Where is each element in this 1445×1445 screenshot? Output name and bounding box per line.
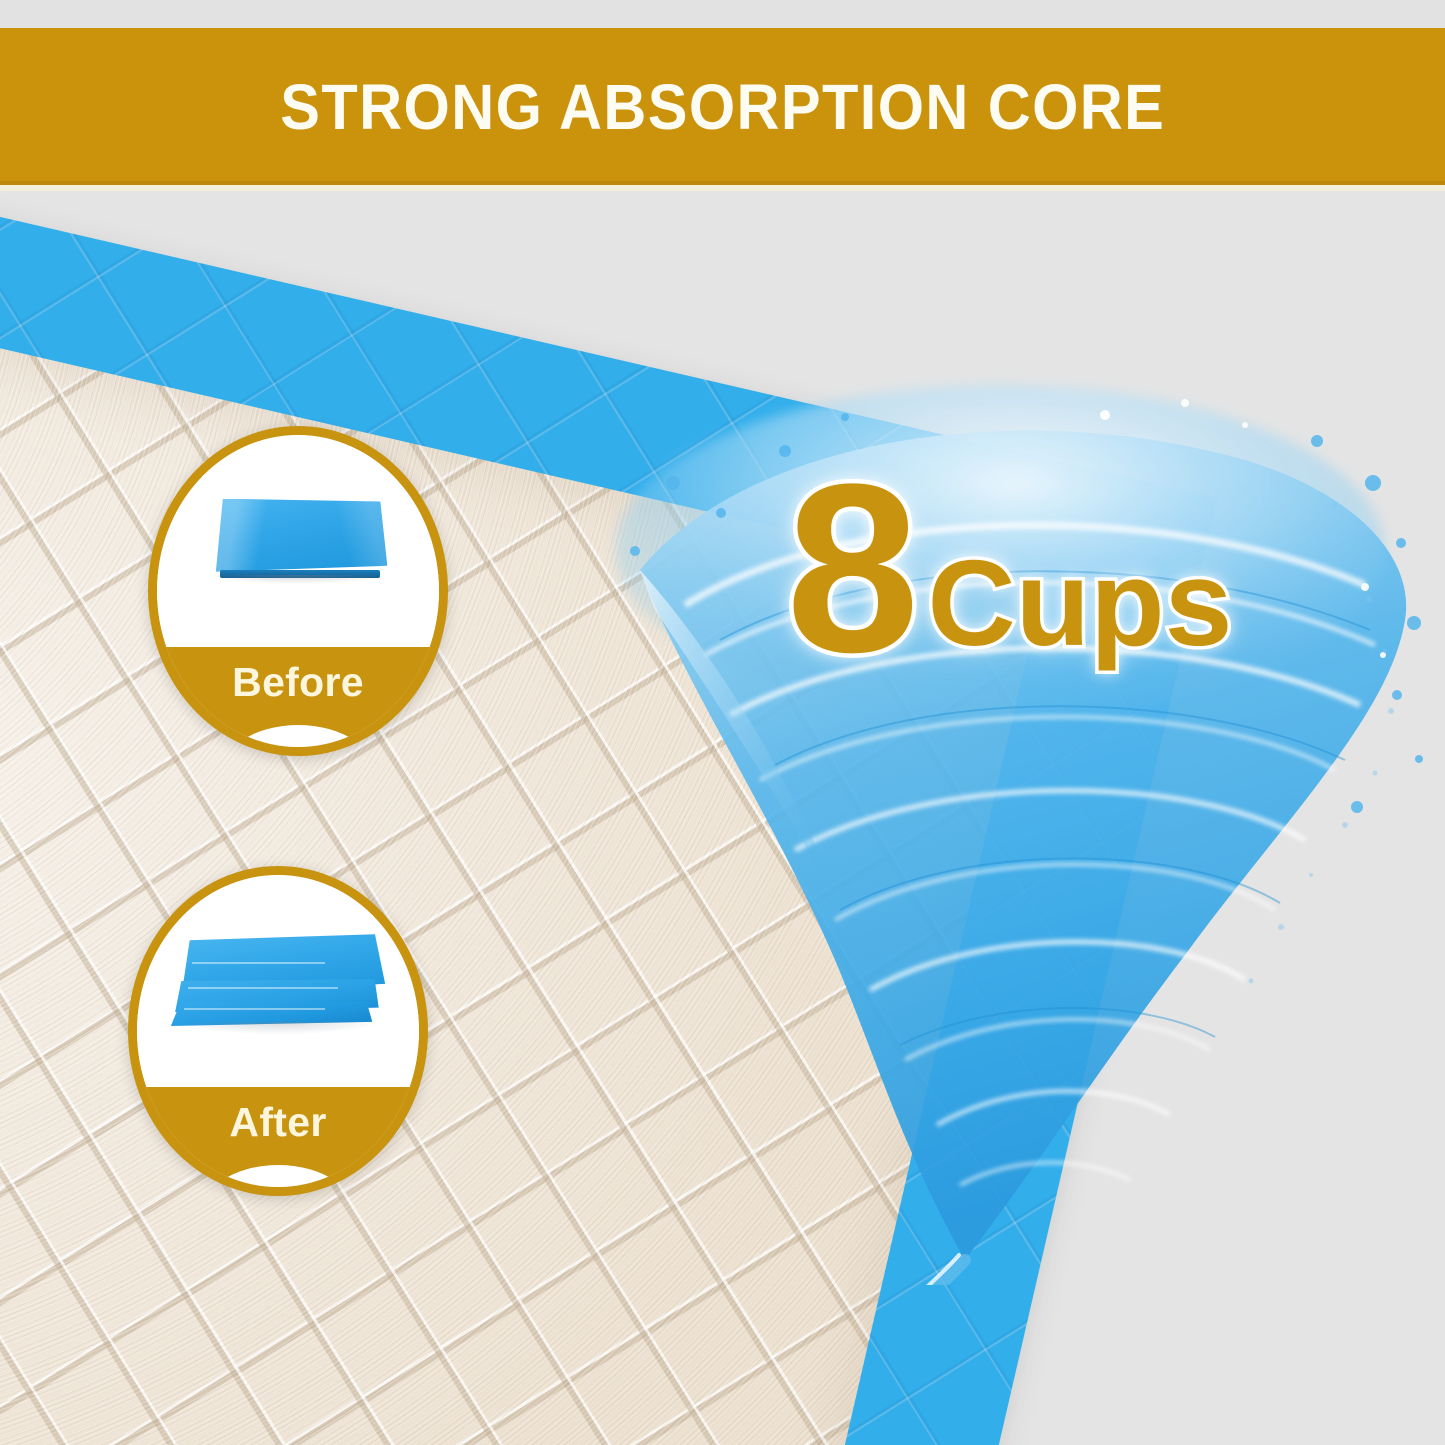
badge-before-label: Before [232,659,364,706]
badge-after: After [128,866,428,1196]
product-feature-image: 8 Cups Before [0,0,1445,1445]
banner-underline [0,185,1445,191]
badge-before: Before [148,426,448,756]
flat-blue-pad-icon [205,499,391,584]
top-background-strip [0,0,1445,28]
after-photo [137,875,419,1087]
header-banner: STRONG ABSORPTION CORE [0,28,1445,185]
page-title: STRONG ABSORPTION CORE [280,70,1165,144]
mat-quilted-core [0,256,1042,1445]
folded-blue-pad-icon [171,932,385,1030]
absorbent-mat [0,102,1217,1445]
before-photo [157,435,439,647]
mat-blue-border [0,102,1217,1445]
badge-after-label: After [229,1099,326,1146]
